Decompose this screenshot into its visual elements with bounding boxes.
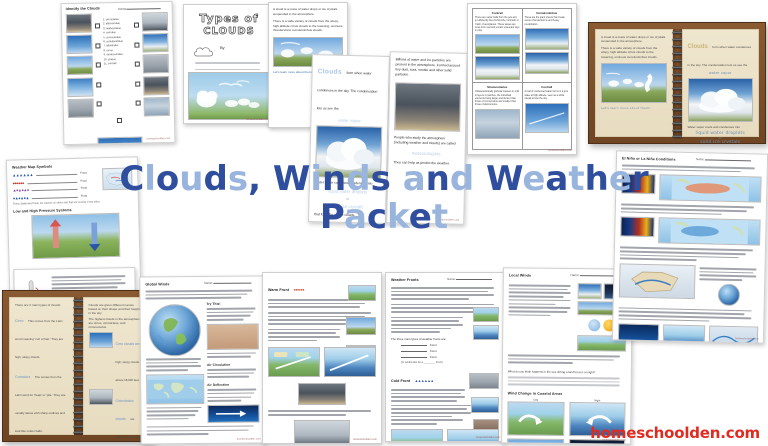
nb-item-name: Cumulus <box>15 375 30 379</box>
checkbox[interactable] <box>135 62 140 67</box>
name-field[interactable]: Name: <box>447 277 499 281</box>
warm-front-diagram-b <box>324 347 376 377</box>
nb-item-name: Cirro <box>15 319 24 323</box>
particles-line-2: People who study the atmosphere (includi… <box>394 135 460 146</box>
symbol-row: ▲●▲●▲● Front <box>13 186 87 193</box>
cumulonimbus-photo <box>525 28 570 50</box>
sheet-subheading: Wind Change in Coastal Areas <box>508 391 626 396</box>
cloud-types-diagram <box>189 73 269 119</box>
sheet-types-of-clouds-cover[interactable]: Types of CLOUDS By <box>183 4 275 124</box>
nb-cloud-item: Cirro clouds are high, wispy clouds abov… <box>89 332 142 386</box>
card-title-word: Clouds <box>318 68 343 76</box>
site-watermark: homeschoolden.com <box>590 424 760 442</box>
jetstream-curve <box>709 327 757 344</box>
cloud-grid-cell[interactable]: Cumulonimbus These are the giant towers … <box>522 8 573 83</box>
cumulus-cloud-shape <box>689 79 753 121</box>
nb-closing-line: Let's learn more about them! <box>601 106 667 110</box>
cloud-layers-diagram <box>602 64 666 102</box>
side-heading-2: Air Circulation <box>207 363 259 367</box>
cloud-photo <box>97 137 142 146</box>
credit-line: homeschoolden.com <box>353 438 377 441</box>
storm-photo <box>298 383 346 405</box>
title-letter: l <box>144 159 156 199</box>
checkbox[interactable] <box>95 24 100 29</box>
front-slope-arrow <box>325 348 375 376</box>
front-label: Front <box>80 179 86 182</box>
booklet-title-line2: CLOUDS <box>189 26 269 37</box>
cold-front-diagram-a <box>391 429 443 442</box>
checkbox[interactable] <box>134 23 139 28</box>
front-label: Front <box>80 172 86 175</box>
sheet-clouds-form-card[interactable]: Clouds form when water condenses in the … <box>308 54 390 224</box>
answer-blank[interactable] <box>27 179 78 183</box>
cirrus-photo <box>89 332 113 348</box>
cloud-photo <box>143 54 169 74</box>
cirrostratus-photo <box>89 389 113 405</box>
symbols-note: These Stationary fronts. Air masses on e… <box>13 199 133 205</box>
notebook-top[interactable]: A cloud is a mass of water drops or ice … <box>588 22 766 144</box>
nb-intro: There are 4 main types of clouds: <box>15 303 68 307</box>
particles-line-3: They can help us predict the weather. <box>393 160 459 166</box>
pacific-sst-map <box>660 176 761 202</box>
hands-balloon-photo <box>207 323 259 349</box>
sea-breeze-arrows <box>508 402 563 435</box>
nb-line-2: Water vapor cools and condenses into <box>688 125 754 129</box>
coriolis-photo <box>207 404 259 422</box>
cloud-photo <box>143 75 169 95</box>
north-america-map <box>619 263 696 299</box>
contrail-photo <box>475 34 520 54</box>
pressure-system-diagram <box>31 213 120 259</box>
particles-line-1: Billions of water and ice particles are … <box>395 57 461 78</box>
cell-body: These are vapor trails from the jets and… <box>475 16 520 32</box>
symbol-row: ▲▲▲▲▲▲ Front <box>12 171 86 178</box>
contrail-photo <box>525 103 570 133</box>
globe-illustration <box>148 304 200 356</box>
cumulus-cloud-shape <box>316 126 381 178</box>
front-type-row: Front <box>401 343 499 347</box>
cumulus-photo <box>688 78 754 122</box>
title-letter: W <box>486 159 522 199</box>
notebook-bottom[interactable]: There are 4 main types of clouds: Cirro … <box>2 290 154 442</box>
cell-body: These are the giant towers that create s… <box>525 16 570 26</box>
world-map-illustration <box>146 374 204 405</box>
credit-line: homeschoolden.com <box>735 337 759 341</box>
cloud-photo <box>142 33 168 53</box>
cloud-outline-icon <box>193 45 215 58</box>
front-slope-arrow <box>269 348 319 376</box>
cell-title: Contrail <box>525 85 570 89</box>
particles-highlight: meteorologists. <box>394 150 460 156</box>
booklet-title-line1: Types of <box>189 12 269 25</box>
nb-item-name: Cirro clouds are <box>116 342 140 346</box>
checkbox[interactable] <box>96 82 101 87</box>
contrail-streak <box>526 104 569 132</box>
word-bank-item: 11. contrail <box>104 62 132 67</box>
na-jetstream-map <box>620 264 695 298</box>
name-label: Name: <box>696 157 705 161</box>
photo-column-right <box>142 12 170 116</box>
nb-intro: Clouds are given different names based o… <box>89 303 142 315</box>
cloud-word-bank: 1. cirrostratus 2. altocumulus 3. nimbos… <box>103 13 133 117</box>
front-symbol-glyph: ●▲●▲●▲ <box>13 195 29 200</box>
nb-paragraph-1: A cloud is a mass of water drops or ice … <box>601 35 667 44</box>
notebook-right-page: Clouds form when water condenses in the … <box>682 29 760 137</box>
cumulus-photo <box>475 56 520 80</box>
nb-cloud-item: Cirro This comes from the Latin word mea… <box>15 309 68 363</box>
title-letter: u <box>179 159 203 199</box>
title-letter: d <box>204 159 228 199</box>
stratocumulus-photo <box>475 109 520 139</box>
card-connector: or <box>314 196 380 202</box>
cell-title: Stratocumulus <box>475 85 520 89</box>
credit-line: homeschoolden.com <box>476 436 500 439</box>
card-highlight-2: liquid water droplets <box>315 188 381 195</box>
title-letter: s <box>228 159 248 199</box>
checkbox-column-left[interactable] <box>94 13 103 117</box>
cell-title: Cumulonimbus <box>525 11 570 15</box>
sheet-particles-card[interactable]: Billions of water and ice particles are … <box>386 51 468 225</box>
globe-continents <box>149 305 199 355</box>
title-letter: W <box>273 159 311 199</box>
nb-para-1: The highest clouds in the atmosphere are… <box>89 317 142 329</box>
nb-cloud-item: Cirrostratus clouds are high, thin sheet… <box>89 389 142 442</box>
front-label: Front <box>81 187 87 190</box>
cell-title: Contrail <box>475 11 520 15</box>
checkbox[interactable] <box>116 118 121 123</box>
nb-highlight-3: solid ice crystals <box>688 140 754 144</box>
cumulonimbus-photo <box>525 52 570 74</box>
nb-paragraph-2: There is a wide variety of clouds from t… <box>601 46 667 59</box>
card-highlight-3: solid ice crystals <box>314 203 380 210</box>
card-line-2: Water vapor cools and condenses into <box>315 180 381 186</box>
credit-line: homeschoolden.com <box>436 218 460 221</box>
front-type-row: Front <box>401 349 499 353</box>
name-label: Name: <box>118 7 127 11</box>
title-letter: , <box>248 159 261 199</box>
cloud-photo <box>68 98 94 118</box>
nb-cloud-item: Strato This comes from the Latin word fo… <box>15 439 68 442</box>
title-letter: h <box>585 159 609 199</box>
title-letter: e <box>522 159 545 199</box>
pacific-map <box>658 218 761 246</box>
globe-illustration <box>718 283 740 305</box>
pacific-sst-map <box>659 219 760 245</box>
cloud-photo <box>66 35 92 55</box>
cool-air-icon <box>588 319 600 331</box>
title-letter <box>261 159 273 199</box>
front-symbol-glyph: ●●●●●● <box>12 180 24 185</box>
cumulus-photo <box>315 125 382 179</box>
occluded-note: (or would also be a ________ Front) <box>401 361 499 364</box>
cloud-photo <box>67 56 93 76</box>
card-line-3: that form the visible clouds. <box>314 212 380 218</box>
cold-front-block-diagram <box>471 397 499 413</box>
answer-blank[interactable] <box>36 172 77 176</box>
answer-blank[interactable] <box>401 349 427 352</box>
us-weather-map <box>102 167 133 190</box>
warm-front-block-diagram <box>348 285 376 301</box>
answer-blank[interactable] <box>32 187 78 191</box>
storm-photo <box>394 82 461 131</box>
nb-item-text: The comes from the Latin word for 'heap'… <box>15 375 65 433</box>
credit-line: homeschoolden.com <box>237 437 261 440</box>
pacific-map <box>659 175 762 203</box>
sheet-subheading: Cold Front <box>391 379 410 383</box>
cloud-photo <box>142 12 168 32</box>
by-label: By <box>220 45 225 50</box>
intro-paragraph-1: A cloud is a mass of water drops or ice … <box>273 7 343 16</box>
notebook-left-page: A cloud is a mass of water drops or ice … <box>595 29 673 137</box>
sheet-heading: Warm Front <box>268 288 289 292</box>
front-type-label: Front <box>430 355 437 359</box>
front-symbol-glyph: ▲▲▲▲▲▲ <box>12 172 33 178</box>
cloud-photo <box>66 14 92 34</box>
sheet-identify-clouds[interactable]: Identify the Clouds Name: <box>61 1 176 145</box>
front-photo <box>469 373 499 389</box>
stratus-photo <box>294 420 350 444</box>
front-block-diagram <box>473 307 499 322</box>
notebook-spiral-binding <box>673 29 682 137</box>
notebook-right-page: Clouds are given different names based o… <box>83 297 148 435</box>
front-label: Front <box>81 194 87 197</box>
nb-title-word: Clouds <box>688 44 708 50</box>
packet-collage: Identify the Clouds Name: <box>0 0 768 446</box>
local-wind-photo <box>578 283 602 299</box>
checkbox[interactable] <box>95 43 100 48</box>
cell-body: Characteristically globular masses or ro… <box>475 90 520 106</box>
checkbox[interactable] <box>134 42 139 47</box>
upwelling-diagram <box>663 325 705 344</box>
side-heading-1: Try This! <box>206 301 258 305</box>
title-letter: o <box>156 159 179 199</box>
cloud-grid-cell[interactable]: Stratocumulus Characteristically globula… <box>472 83 522 150</box>
sea-breeze-diagram <box>507 401 564 436</box>
credit-line: homeschoolden.com <box>548 149 572 152</box>
sst-anomaly-photo <box>621 174 655 195</box>
sheet-el-nino[interactable]: El Niño or La Niña Conditions Name: <box>612 150 768 343</box>
coriolis-arrow <box>208 405 258 421</box>
daytime-coast-photo <box>507 438 564 444</box>
pressure-arrows <box>32 214 119 258</box>
front-type-label: Front <box>430 349 437 353</box>
name-field[interactable]: Name: <box>118 6 166 11</box>
symbol-row: ●▲●▲●▲ Front <box>13 193 87 200</box>
name-blank-line[interactable] <box>195 62 260 64</box>
jetstream-diagram <box>708 326 758 344</box>
answer-blank[interactable] <box>32 194 78 198</box>
sheet-warm-front[interactable]: Warm Front ●●●●●● <box>262 272 382 444</box>
checkbox-column-right[interactable] <box>133 13 142 117</box>
front-block-diagram <box>473 325 499 340</box>
cloud-types-photo <box>601 63 667 103</box>
cell-body: A trail of condensed water forms in a je… <box>525 90 570 100</box>
warm-front-symbol: ●●●●●● <box>293 288 304 292</box>
symbol-row: ●●●●●● Front <box>12 178 86 185</box>
sst-anomaly-photo <box>620 217 654 238</box>
checkbox[interactable] <box>96 63 101 68</box>
checkbox[interactable] <box>97 102 102 107</box>
name-blank-line[interactable] <box>195 69 260 71</box>
sheet-weather-fronts[interactable]: Weather Fronts Name: The three main type… <box>385 272 505 442</box>
world-map-continents <box>147 375 203 403</box>
notebook-left-page: There are 4 main types of clouds: Cirro … <box>9 297 74 435</box>
answer-blank[interactable] <box>401 343 427 346</box>
us-map-outline <box>103 168 132 189</box>
name-label: Name: <box>204 281 213 285</box>
answer-blank[interactable] <box>401 355 427 358</box>
front-type-row: Front <box>401 355 499 359</box>
nb-item-text: high, wispy clouds above 18,000 feet. <box>116 360 140 382</box>
local-winds-question: What do you think happens in the sea dur… <box>508 369 626 374</box>
cold-front-symbol: ▲▲▲▲▲▲ <box>415 379 434 383</box>
checkbox[interactable] <box>136 101 141 106</box>
sheet-cloud-type-grid[interactable]: Contrail These are vapor trails from the… <box>467 3 577 155</box>
name-label: Name: <box>447 277 456 281</box>
title-letter <box>474 159 486 199</box>
card-line-1: form when water condenses in the sky. Th… <box>317 71 378 111</box>
front-photo <box>346 317 376 335</box>
warm-front-diagram-a <box>268 347 320 377</box>
cloud-grid-cell[interactable]: Contrail A trail of condensed water form… <box>522 83 573 150</box>
sun-icon <box>508 439 563 444</box>
credit-line: homeschoolden.com <box>246 118 270 121</box>
intro-paragraph-2: There is a wide variety of clouds from t… <box>273 19 343 33</box>
front-symbol-glyph: ▲●▲●▲● <box>13 187 29 192</box>
name-field[interactable]: Name: <box>204 281 258 285</box>
checkbox[interactable] <box>135 81 140 86</box>
cloud-photo <box>144 97 170 117</box>
name-label: Name: <box>571 273 580 277</box>
nb-item-text: This comes from the Latin word meaning '… <box>15 319 63 359</box>
photo-column-left <box>66 14 94 118</box>
sheet-global-winds[interactable]: Global Winds Name: <box>139 275 265 444</box>
notebook-spiral-binding <box>74 297 83 435</box>
card-highlight-1: water vapor <box>316 117 382 124</box>
front-type-label: Front <box>430 343 437 347</box>
cloud-diagram-illustration <box>188 72 270 120</box>
side-heading-3: Air Deflection <box>207 383 259 387</box>
cloud-grid-cell[interactable]: Contrail These are vapor trails from the… <box>472 8 522 83</box>
credit-line: homeschoolden.com <box>147 136 171 139</box>
cloud-photo <box>67 77 93 97</box>
title-letter: a <box>545 159 568 199</box>
nb-highlight-1: water vapor <box>688 71 754 75</box>
title-letter: t <box>568 159 584 199</box>
nb-cloud-item: Cumulus The comes from the Latin word fo… <box>15 365 68 437</box>
